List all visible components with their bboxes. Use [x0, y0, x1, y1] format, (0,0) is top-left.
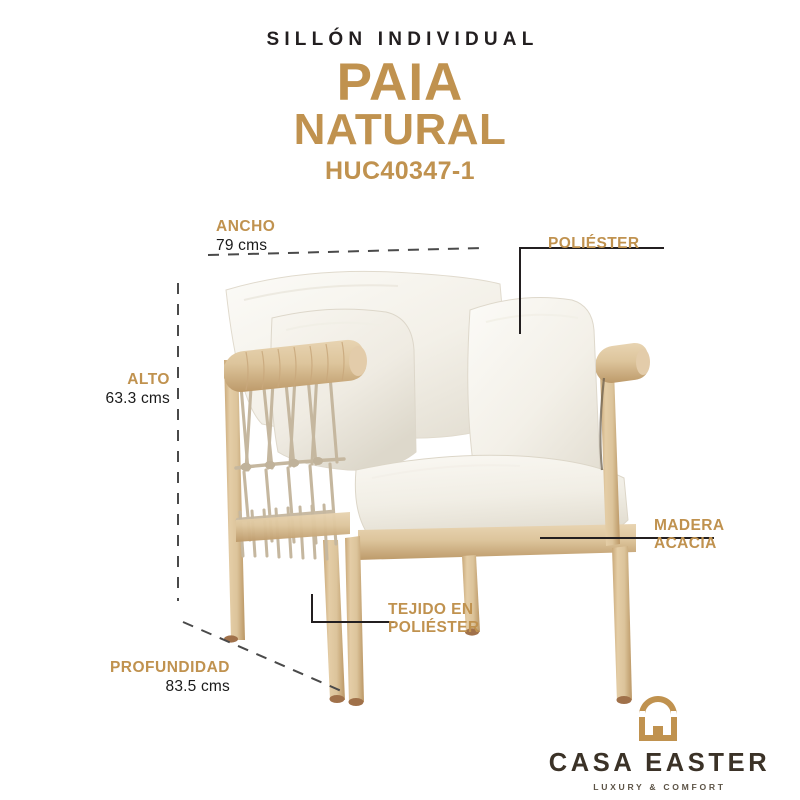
callout-tejido-poliester: TEJIDO EN POLIÉSTER — [388, 601, 479, 637]
tejido-leader-line — [312, 594, 394, 622]
callout-madera-acacia: MADERA ACACIA — [654, 517, 724, 553]
callout-poliester: POLIÉSTER — [548, 235, 639, 253]
callout-madera-line1: MADERA — [654, 517, 724, 535]
callout-tejido-line2: POLIÉSTER — [388, 619, 479, 637]
callout-poliester-line1: POLIÉSTER — [548, 235, 639, 253]
dimension-ancho: ANCHO 79 cms — [216, 218, 275, 255]
brand-name: CASA EASTER — [527, 751, 789, 777]
dimension-ancho-label: ANCHO — [216, 218, 275, 236]
poliester-leader-line — [520, 248, 664, 334]
callout-tejido-line1: TEJIDO EN — [388, 601, 479, 619]
dimension-alto-label: ALTO — [60, 371, 170, 389]
house-arch-icon — [632, 694, 684, 744]
dimension-profundidad: PROFUNDIDAD 83.5 cms — [60, 659, 230, 696]
dimension-alto: ALTO 63.3 cms — [60, 371, 170, 408]
dimension-alto-value: 63.3 cms — [60, 390, 170, 408]
dimension-ancho-value: 79 cms — [216, 237, 275, 255]
dimension-profundidad-value: 83.5 cms — [60, 678, 230, 696]
brand-tagline: LUXURY & COMFORT — [527, 783, 789, 792]
brand-logo: CASA EASTER LUXURY & COMFORT — [527, 694, 789, 791]
callout-madera-line2: ACACIA — [654, 535, 724, 553]
product-spec-sheet: SILLÓN INDIVIDUAL PAIA NATURAL HUC40347-… — [0, 0, 800, 800]
dimension-profundidad-label: PROFUNDIDAD — [60, 659, 230, 677]
